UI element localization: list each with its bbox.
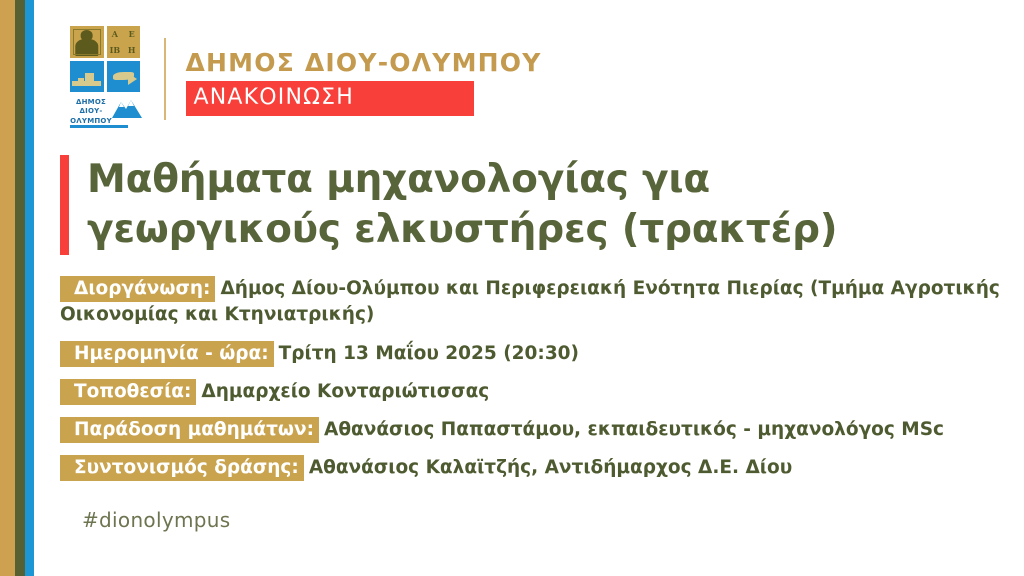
hashtag: #dionolympus bbox=[82, 508, 230, 532]
detail-label: Ημερομηνία - ώρα: bbox=[60, 341, 274, 367]
announcement-poster: Α Ε ΙΒ Η ΔΗΜΟΣ bbox=[0, 0, 1024, 576]
logo-underline bbox=[70, 125, 128, 128]
header-text-block: ΔΗΜΟΣ ΔΙΟΥ-ΟΛΥΜΠΟΥ ΑΝΑΚΟΙΝΩΣΗ bbox=[186, 26, 542, 116]
page-title: Μαθήματα μηχανολογίας για γεωργικούς ελκ… bbox=[87, 155, 967, 255]
stripe-gold bbox=[0, 0, 15, 576]
header-divider bbox=[164, 38, 166, 120]
stripe-blue bbox=[25, 0, 34, 576]
detail-label: Παράδοση μαθημάτων: bbox=[60, 417, 319, 443]
detail-row: Τοποθεσία:Δημαρχείο Κονταριώτισσας bbox=[60, 379, 1010, 405]
crest-letter-2: Ε bbox=[129, 30, 135, 38]
detail-row: Διοργάνωση:Δήμος Δίου-Ολύμπου και Περιφε… bbox=[60, 276, 1010, 329]
crest-quadrant-letters-icon: Α Ε ΙΒ Η bbox=[107, 26, 141, 58]
crest-icon: Α Ε ΙΒ Η bbox=[70, 26, 140, 92]
municipality-logo: Α Ε ΙΒ Η ΔΗΜΟΣ bbox=[62, 26, 146, 130]
detail-label: Συντονισμός δράσης: bbox=[60, 455, 304, 481]
crest-quadrant-shoreline-icon bbox=[70, 61, 104, 93]
detail-row: Συντονισμός δράσης:Αθανάσιος Καλαϊτζής, … bbox=[60, 455, 1010, 481]
detail-value: Τρίτη 13 Μαΐου 2025 (20:30) bbox=[274, 343, 579, 364]
organization-name: ΔΗΜΟΣ ΔΙΟΥ-ΟΛΥΜΠΟΥ bbox=[186, 50, 542, 75]
announcement-banner: ΑΝΑΚΟΙΝΩΣΗ bbox=[186, 81, 474, 116]
detail-value: Δημαρχείο Κονταριώτισσας bbox=[196, 381, 489, 402]
header: Α Ε ΙΒ Η ΔΗΜΟΣ bbox=[62, 26, 542, 130]
stripe-olive bbox=[15, 0, 25, 576]
detail-label: Διοργάνωση: bbox=[60, 276, 215, 302]
detail-list: Διοργάνωση:Δήμος Δίου-Ολύμπου και Περιφε… bbox=[60, 276, 1010, 482]
crest-quadrant-saint-icon bbox=[70, 26, 104, 58]
detail-label: Τοποθεσία: bbox=[60, 379, 196, 405]
title-block: Μαθήματα μηχανολογίας για γεωργικούς ελκ… bbox=[60, 155, 967, 255]
crest-letter-1: Α bbox=[112, 30, 118, 38]
title-accent-bar bbox=[60, 155, 69, 255]
detail-row: Ημερομηνία - ώρα:Τρίτη 13 Μαΐου 2025 (20… bbox=[60, 341, 1010, 367]
detail-value: Αθανάσιος Παπαστάμου, εκπαιδευτικός - μη… bbox=[319, 419, 944, 440]
crest-letter-3: ΙΒ bbox=[110, 46, 121, 54]
logo-wordmark: ΔΗΜΟΣ ΔΙΟΥ-ΟΛΥΜΠΟΥ bbox=[62, 96, 146, 130]
mountain-icon bbox=[110, 96, 144, 120]
crest-letter-4: Η bbox=[128, 46, 136, 54]
detail-row: Παράδοση μαθημάτων:Αθανάσιος Παπαστάμου,… bbox=[60, 417, 1010, 443]
left-color-stripes bbox=[0, 0, 34, 576]
crest-quadrant-fish-icon bbox=[107, 61, 141, 93]
detail-value: Αθανάσιος Καλαϊτζής, Αντιδήμαρχος Δ.Ε. Δ… bbox=[304, 457, 792, 478]
